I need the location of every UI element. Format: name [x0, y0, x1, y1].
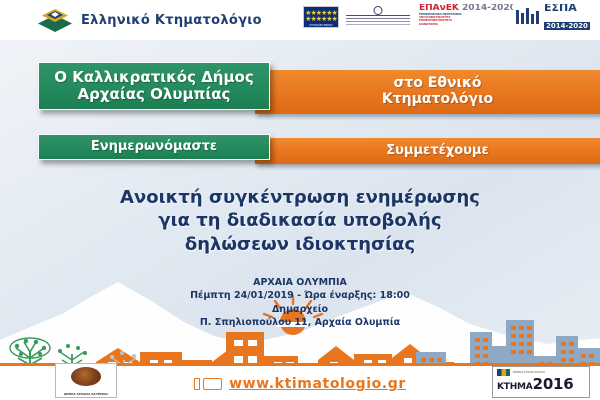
ministry-logo	[342, 5, 414, 29]
event-datetime: Πέμπτη 24/01/2019 - Ώρα έναρξης: 18:00	[0, 289, 600, 302]
epanek-title: ΕΠΑνΕΚ	[419, 4, 459, 13]
organization-title: Ελληνικό Κτηματολόγιο	[81, 13, 262, 28]
epanek-logo: ΕΠΑνΕΚ 2014-2020 ΕΠΙΧΕΙΡΗΣΙΑΚΟ ΠΡΟΓΡΑΜΜΑ…	[417, 4, 513, 30]
campaign-mark-icon	[497, 369, 510, 376]
banner-row-1: στο Εθνικό Κτηματολόγιο Ο Καλλικρατικός …	[0, 62, 600, 112]
campaign-logo-mini: ΕΘΝΙΚΟ ΚΤΗΜΑΤΟΛΟΓΙΟ	[513, 371, 545, 374]
header-bar: Ελληνικό Κτηματολόγιο ★★★★★★★★★★★★ ΕΥΡΩΠ…	[0, 0, 600, 40]
banner-green-row2-label: Ενημερωνόμαστε	[91, 140, 217, 155]
epanek-years: 2014-2020	[462, 4, 513, 13]
ktima2016-campaign-logo: ΕΘΝΙΚΟ ΚΤΗΜΑΤΟΛΟΓΙΟ ΚΤΗΜΑ2016	[492, 366, 590, 398]
banner-green-row1-label: Ο Καλλικρατικός Δήμος Αρχαίας Ολυμπίας	[54, 69, 253, 103]
campaign-logo-year: 2016	[533, 375, 574, 393]
banner-orange-participate: Συμμετέχουμε	[255, 138, 600, 164]
banner-row-2: Συμμετέχουμε Ενημερωνόμαστε	[0, 134, 600, 168]
event-details: ΑΡΧΑΙΑ ΟΛΥΜΠΙΑ Πέμπτη 24/01/2019 - Ώρα έ…	[0, 276, 600, 330]
campaign-logo-main: ΚΤΗΜΑ	[497, 382, 533, 392]
event-address: Π. Σπηλιοπούλου 11, Αρχαία Ολυμπία	[0, 316, 600, 329]
event-venue: Δημαρχείο	[0, 303, 600, 316]
organization-branding: Ελληνικό Κτηματολόγιο	[38, 7, 262, 33]
poster-canvas: Ελληνικό Κτηματολόγιο ★★★★★★★★★★★★ ΕΥΡΩΠ…	[0, 0, 600, 400]
phone-icon	[194, 378, 200, 390]
banner-green-municipality: Ο Καλλικρατικός Δήμος Αρχαίας Ολυμπίας	[38, 62, 270, 110]
banner-orange-national-cadastre: στο Εθνικό Κτηματολόγιο	[255, 70, 600, 114]
main-heading: Ανοικτή συγκέντρωση ενημέρωσης για τη δι…	[0, 186, 600, 256]
ktimatologio-diamond-logo	[38, 7, 74, 33]
espa-years: 2014-2020	[544, 22, 590, 30]
banner-orange-row1-label: στο Εθνικό Κτηματολόγιο	[382, 76, 493, 107]
banner-orange-row2-label: Συμμετέχουμε	[386, 144, 488, 159]
espa-logo: ΕΣΠΑ 2014-2020	[516, 4, 596, 30]
contact-icons	[194, 378, 222, 390]
eu-flag-caption: ΕΥΡΩΠΑΪΚΗ ΕΝΩΣΗ	[304, 24, 338, 27]
banner-green-informed: Ενημερωνόμαστε	[38, 134, 270, 160]
espa-title: ΕΣΠΑ	[544, 4, 590, 13]
event-location: ΑΡΧΑΙΑ ΟΛΥΜΠΙΑ	[0, 276, 600, 289]
website-link[interactable]: www.ktimatologio.gr	[229, 376, 406, 392]
eu-flag-logo: ★★★★★★★★★★★★ ΕΥΡΩΠΑΪΚΗ ΕΝΩΣΗ	[303, 6, 339, 28]
monitor-icon	[203, 378, 222, 390]
epanek-sub4: ΚΑΙΝΟΤΟΜΙΑ	[417, 23, 513, 26]
municipal-seal-caption: ΔΗΜΟΣ ΑΡΧΑΙΑΣ ΟΛΥΜΠΙΑΣ	[56, 393, 116, 396]
funding-logos: ★★★★★★★★★★★★ ΕΥΡΩΠΑΪΚΗ ΕΝΩΣΗ ΕΠΑνΕΚ 2014…	[303, 4, 596, 30]
espa-bars-icon	[516, 8, 542, 26]
